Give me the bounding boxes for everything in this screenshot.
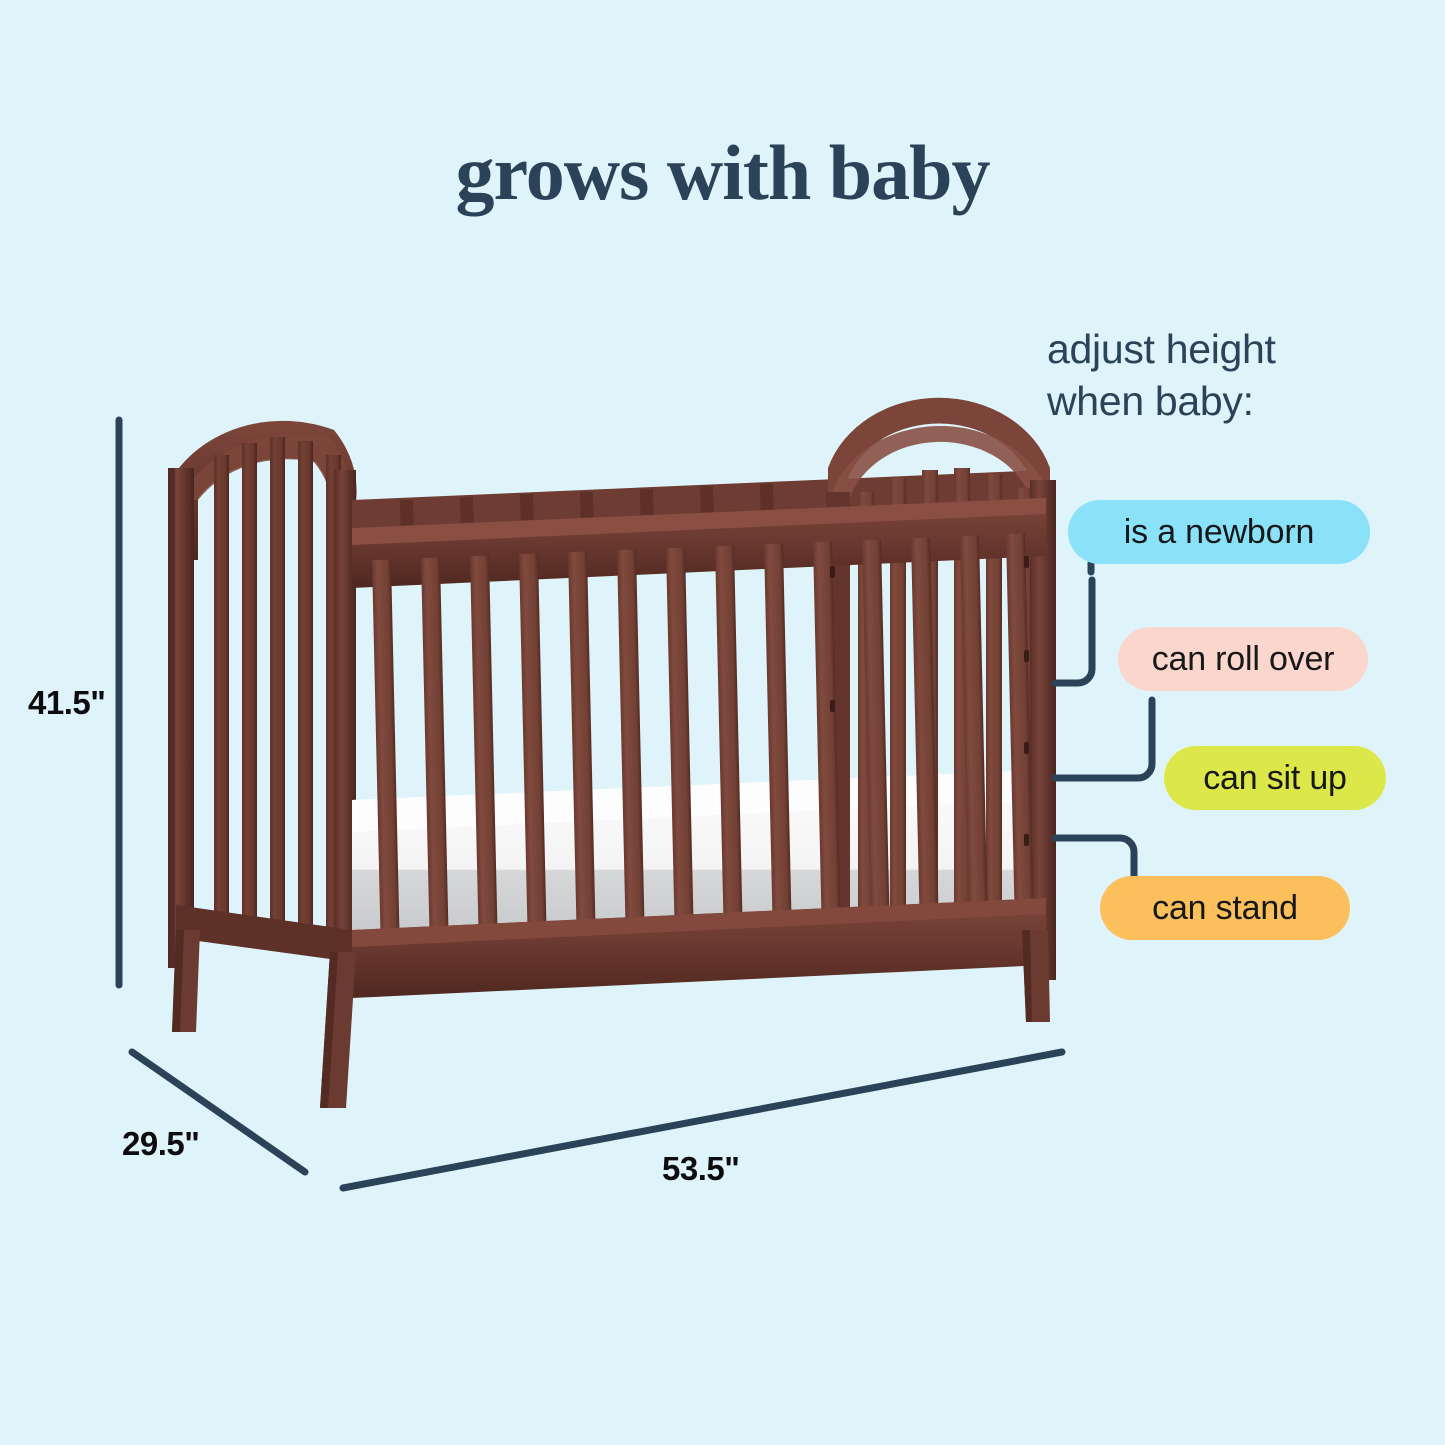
milestone-pill-roll-over[interactable]: can roll over bbox=[1118, 627, 1368, 691]
connector-sit-up bbox=[1055, 700, 1152, 778]
depth-dimension-label: 29.5" bbox=[122, 1125, 199, 1163]
milestone-pill-can-stand-label: can stand bbox=[1152, 889, 1298, 928]
crib-illustration bbox=[0, 0, 1445, 1445]
milestone-pill-roll-over-label: can roll over bbox=[1152, 640, 1335, 679]
width-dimension-label: 53.5" bbox=[662, 1150, 739, 1188]
milestone-pill-sit-up[interactable]: can sit up bbox=[1164, 746, 1386, 810]
crib-left-end-panel bbox=[168, 421, 357, 968]
infographic-canvas: grows with baby bbox=[0, 0, 1445, 1445]
callout-heading: adjust height when baby: bbox=[1047, 323, 1417, 428]
height-dimension-label: 41.5" bbox=[28, 684, 105, 722]
milestone-pill-newborn-label: is a newborn bbox=[1124, 513, 1314, 552]
milestone-pill-can-stand[interactable]: can stand bbox=[1100, 876, 1350, 940]
crib-left-lower-rail bbox=[176, 905, 352, 962]
callout-heading-line-2: when baby: bbox=[1047, 375, 1417, 427]
milestone-pill-newborn[interactable]: is a newborn bbox=[1068, 500, 1370, 564]
callout-heading-line-1: adjust height bbox=[1047, 323, 1417, 375]
milestone-pill-sit-up-label: can sit up bbox=[1203, 759, 1347, 798]
callout-connectors bbox=[1055, 563, 1152, 876]
connector-roll-over bbox=[1055, 580, 1092, 683]
connector-can-stand bbox=[1055, 838, 1134, 876]
